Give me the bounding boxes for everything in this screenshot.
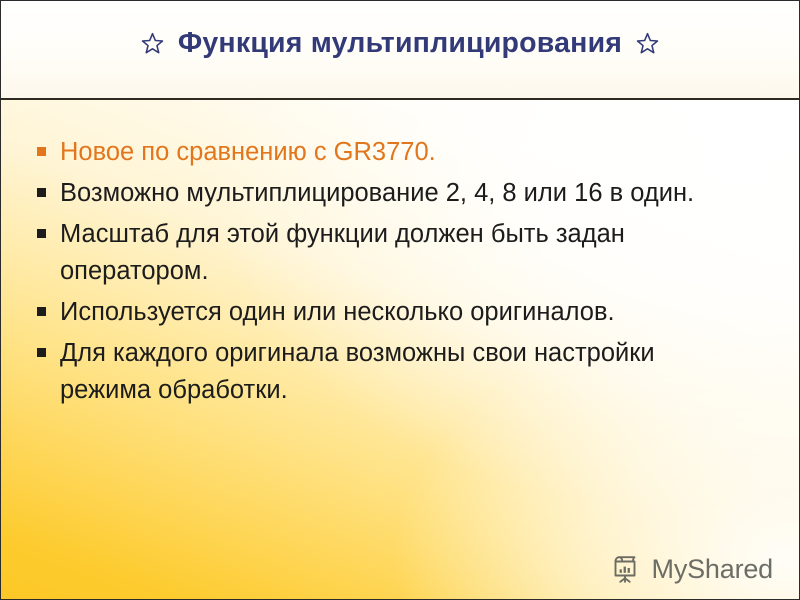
slide-title-row: Функция мультиплицирования (140, 27, 660, 60)
bullet-text: Новое по сравнению с GR3770. (60, 134, 436, 171)
presentation-board-chart-icon (609, 552, 643, 586)
bullet-text: Используется один или несколько оригинал… (60, 294, 615, 331)
square-bullet-icon (37, 188, 46, 197)
star-outline-icon-left (140, 31, 165, 56)
bullet-text: Масштаб для этой функции должен быть зад… (60, 216, 725, 290)
star-outline-icon-right (635, 31, 660, 56)
square-bullet-icon (37, 147, 46, 156)
slide: Функция мультиплицирования Новое по срав… (0, 0, 800, 600)
watermark-label: MyShared (652, 554, 773, 585)
slide-body: Новое по сравнению с GR3770. Возможно му… (1, 100, 799, 600)
square-bullet-icon (37, 229, 46, 238)
list-item: Новое по сравнению с GR3770. (37, 134, 769, 171)
square-bullet-icon (37, 348, 46, 357)
page-title: Функция мультиплицирования (178, 27, 622, 60)
list-item: Используется один или несколько оригинал… (37, 294, 769, 331)
list-item: Масштаб для этой функции должен быть зад… (37, 216, 769, 290)
bullet-text: Возможно мультиплицирование 2, 4, 8 или … (60, 175, 694, 212)
watermark: MyShared (609, 552, 773, 586)
slide-title-band: Функция мультиплицирования (1, 1, 799, 98)
bullet-text: Для каждого оригинала возможны свои наст… (60, 335, 725, 409)
list-item: Возможно мультиплицирование 2, 4, 8 или … (37, 175, 769, 212)
list-item: Для каждого оригинала возможны свои наст… (37, 335, 769, 409)
bullet-list: Новое по сравнению с GR3770. Возможно му… (37, 134, 769, 413)
square-bullet-icon (37, 307, 46, 316)
